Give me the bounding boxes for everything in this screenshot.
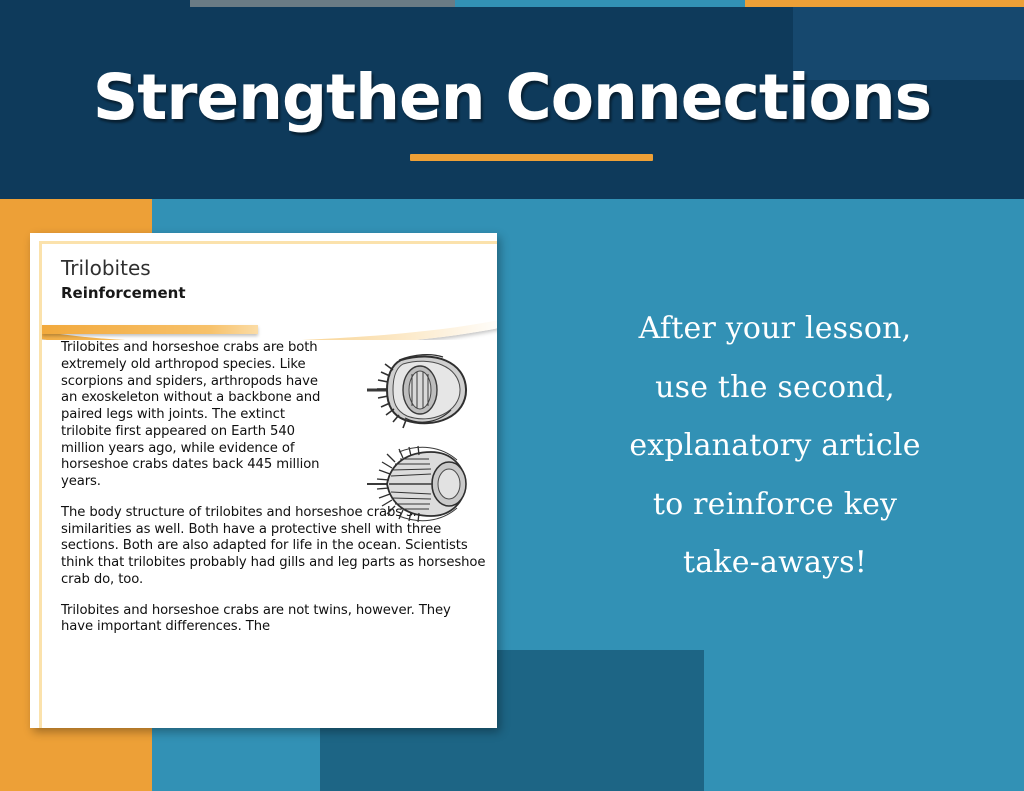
caption-line: After your lesson, xyxy=(546,300,1004,359)
slide-caption: After your lesson, use the second, expla… xyxy=(546,300,1004,593)
worksheet-paragraph-3: Trilobites and horseshoe crabs are not t… xyxy=(61,603,486,637)
slide-canvas: Strengthen Connections Trilobites Reinfo… xyxy=(0,0,1024,791)
horseshoe-crab-illustration xyxy=(365,348,477,432)
worksheet-subtitle: Reinforcement xyxy=(61,284,497,302)
worksheet-paragraph-1: Trilobites and horseshoe crabs are both … xyxy=(61,340,333,491)
swoosh-curve-mask xyxy=(42,308,497,340)
title-underline-rule xyxy=(410,154,653,161)
caption-line: to reinforce key xyxy=(546,476,1004,535)
worksheet-header: Trilobites Reinforcement xyxy=(42,244,497,328)
worksheet-card[interactable]: Trilobites Reinforcement Trilobites and … xyxy=(30,233,497,728)
worksheet-card-inner: Trilobites Reinforcement Trilobites and … xyxy=(39,241,497,728)
worksheet-title: Trilobites xyxy=(61,256,497,280)
top-strip-segment-teal xyxy=(455,0,745,7)
swoosh-curve xyxy=(42,308,497,340)
caption-line: take-aways! xyxy=(546,534,1004,593)
top-strip-segment-orange xyxy=(745,0,1024,7)
caption-line: use the second, xyxy=(546,359,1004,418)
worksheet-swoosh-divider xyxy=(42,308,497,340)
swoosh-bar xyxy=(42,325,258,334)
page-title: Strengthen Connections xyxy=(0,66,1024,129)
caption-line: explanatory article xyxy=(546,417,1004,476)
trilobite-illustration xyxy=(365,440,477,528)
top-strip-segment-navy xyxy=(0,0,190,7)
top-strip-segment-gray xyxy=(190,0,455,7)
worksheet-figures xyxy=(365,348,483,528)
